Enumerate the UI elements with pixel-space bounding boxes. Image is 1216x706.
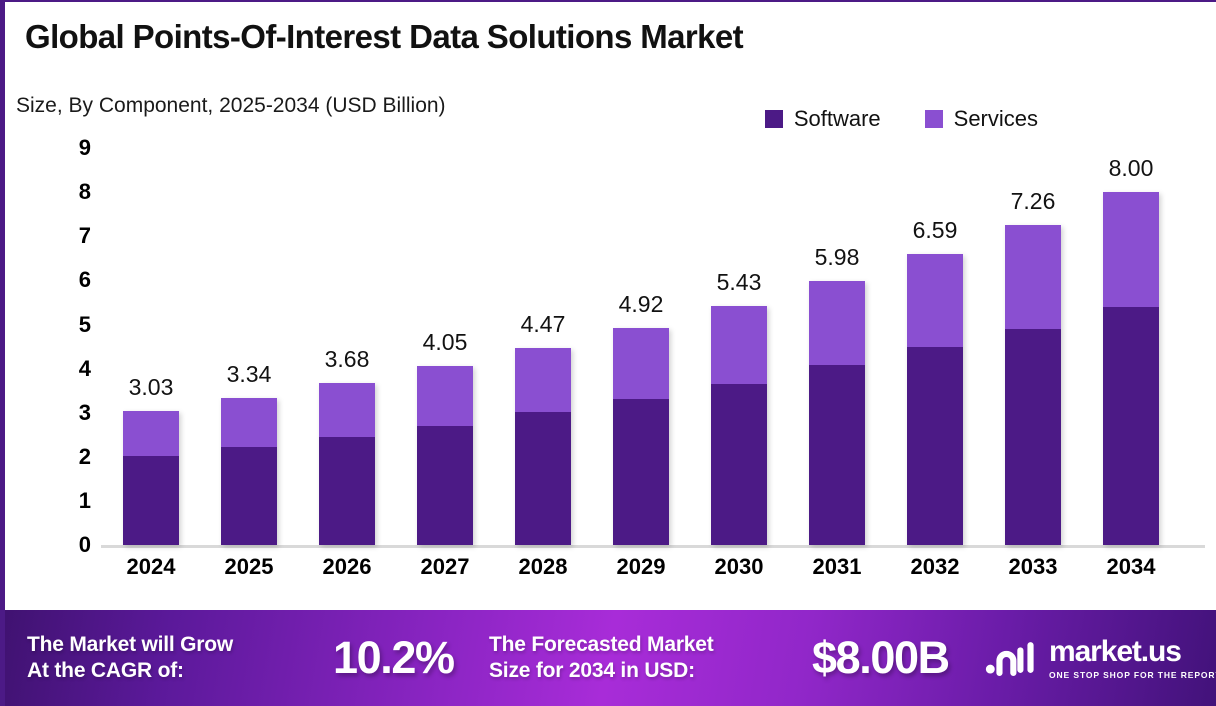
bar-group-2031[interactable]: 5.98: [809, 281, 865, 545]
x-tick-2026: 2026: [302, 554, 392, 580]
bar-segment-software[interactable]: [1005, 329, 1061, 545]
bar-stack[interactable]: [907, 254, 963, 545]
y-tick-9: 9: [57, 135, 91, 161]
bar-group-2028[interactable]: 4.47: [515, 348, 571, 545]
bar-group-2024[interactable]: 3.03: [123, 411, 179, 545]
bar-stack[interactable]: [1103, 192, 1159, 545]
legend-swatch-services-icon: [925, 110, 943, 128]
bar-segment-software[interactable]: [1103, 307, 1159, 545]
bar-total-label-2025: 3.34: [227, 361, 272, 388]
bar-segment-services[interactable]: [809, 281, 865, 365]
bar-segment-software[interactable]: [417, 426, 473, 545]
bar-stack[interactable]: [221, 398, 277, 545]
bar-segment-services[interactable]: [1103, 192, 1159, 307]
bar-total-label-2034: 8.00: [1109, 155, 1154, 182]
bar-segment-services[interactable]: [515, 348, 571, 412]
forecast-label-line2: Size for 2034 in USD:: [489, 659, 695, 682]
bar-segment-services[interactable]: [613, 328, 669, 399]
y-tick-7: 7: [57, 223, 91, 249]
legend-label-software: Software: [794, 106, 881, 132]
forecast-value: $8.00B: [812, 632, 949, 684]
legend-swatch-software-icon: [765, 110, 783, 128]
cagr-label-block: The Market will Grow At the CAGR of:: [27, 632, 233, 683]
bar-group-2026[interactable]: 3.68: [319, 383, 375, 545]
bar-segment-services[interactable]: [1005, 225, 1061, 329]
bar-stack[interactable]: [319, 383, 375, 545]
bar-group-2032[interactable]: 6.59: [907, 254, 963, 545]
bar-total-label-2026: 3.68: [325, 346, 370, 373]
page-title: Global Points-Of-Interest Data Solutions…: [25, 18, 743, 56]
x-tick-2028: 2028: [498, 554, 588, 580]
bar-total-label-2032: 6.59: [913, 217, 958, 244]
y-axis: 0123456789: [57, 140, 91, 549]
legend-item-services[interactable]: Services: [925, 106, 1038, 132]
brand-logo[interactable]: market.us ONE STOP SHOP FOR THE REPORTS: [985, 637, 1216, 680]
bar-total-label-2024: 3.03: [129, 374, 174, 401]
x-tick-2030: 2030: [694, 554, 784, 580]
forecast-label-line1: The Forecasted Market: [489, 633, 714, 656]
bar-segment-software[interactable]: [515, 412, 571, 545]
bar-group-2029[interactable]: 4.92: [613, 328, 669, 545]
y-tick-5: 5: [57, 312, 91, 338]
bar-segment-software[interactable]: [809, 365, 865, 545]
x-tick-2031: 2031: [792, 554, 882, 580]
forecast-label-block: The Forecasted Market Size for 2034 in U…: [489, 632, 714, 683]
x-tick-2027: 2027: [400, 554, 490, 580]
bar-total-label-2030: 5.43: [717, 269, 762, 296]
legend-label-services: Services: [954, 106, 1038, 132]
bar-group-2030[interactable]: 5.43: [711, 306, 767, 545]
bar-total-label-2031: 5.98: [815, 244, 860, 271]
bar-segment-software[interactable]: [221, 447, 277, 545]
x-tick-2025: 2025: [204, 554, 294, 580]
bar-stack[interactable]: [613, 328, 669, 545]
bar-total-label-2029: 4.92: [619, 291, 664, 318]
y-tick-1: 1: [57, 488, 91, 514]
bar-stack[interactable]: [123, 411, 179, 545]
y-tick-2: 2: [57, 444, 91, 470]
bar-segment-services[interactable]: [123, 411, 179, 456]
bar-stack[interactable]: [1005, 225, 1061, 545]
cagr-value: 10.2%: [333, 632, 454, 684]
y-tick-4: 4: [57, 356, 91, 382]
bar-total-label-2027: 4.05: [423, 329, 468, 356]
x-tick-2034: 2034: [1086, 554, 1176, 580]
market-infographic: Global Points-Of-Interest Data Solutions…: [0, 0, 1216, 706]
chart-plot-area: 0123456789 3.033.343.684.054.474.925.435…: [5, 140, 1216, 610]
bar-stack[interactable]: [809, 281, 865, 545]
bar-group-2027[interactable]: 4.05: [417, 366, 473, 545]
x-axis: 2024202520262027202820292030203120322033…: [101, 554, 1205, 594]
x-tick-2033: 2033: [988, 554, 1078, 580]
legend-item-software[interactable]: Software: [765, 106, 881, 132]
bar-group-2034[interactable]: 8.00: [1103, 192, 1159, 545]
market-us-logo-icon: [985, 639, 1039, 677]
brand-name: market.us: [1049, 637, 1216, 667]
cagr-label-line2: At the CAGR of:: [27, 659, 184, 682]
chart-subtitle: Size, By Component, 2025-2034 (USD Billi…: [16, 94, 446, 118]
bar-series-container: 3.033.343.684.054.474.925.435.986.597.26…: [101, 140, 1205, 545]
brand-tagline: ONE STOP SHOP FOR THE REPORTS: [1049, 670, 1216, 680]
x-tick-2032: 2032: [890, 554, 980, 580]
bar-segment-services[interactable]: [907, 254, 963, 347]
x-tick-2029: 2029: [596, 554, 686, 580]
bar-segment-services[interactable]: [711, 306, 767, 384]
bar-group-2033[interactable]: 7.26: [1005, 225, 1061, 545]
x-axis-line: [101, 545, 1205, 548]
bar-group-2025[interactable]: 3.34: [221, 398, 277, 545]
cagr-label-line1: The Market will Grow: [27, 633, 233, 656]
y-tick-3: 3: [57, 400, 91, 426]
y-tick-8: 8: [57, 179, 91, 205]
y-tick-0: 0: [57, 532, 91, 558]
bar-segment-software[interactable]: [123, 456, 179, 545]
bar-stack[interactable]: [711, 306, 767, 545]
bar-segment-services[interactable]: [417, 366, 473, 426]
x-tick-2024: 2024: [106, 554, 196, 580]
bar-segment-software[interactable]: [711, 384, 767, 545]
bar-stack[interactable]: [417, 366, 473, 545]
bar-segment-services[interactable]: [221, 398, 277, 447]
bar-segment-services[interactable]: [319, 383, 375, 437]
bar-segment-software[interactable]: [613, 399, 669, 545]
y-tick-6: 6: [57, 267, 91, 293]
bar-segment-software[interactable]: [907, 347, 963, 545]
bar-stack[interactable]: [515, 348, 571, 545]
bar-total-label-2033: 7.26: [1011, 188, 1056, 215]
bar-total-label-2028: 4.47: [521, 311, 566, 338]
footer-band: The Market will Grow At the CAGR of: 10.…: [0, 610, 1216, 706]
bar-segment-software[interactable]: [319, 437, 375, 545]
chart-legend: Software Services: [765, 106, 1038, 132]
